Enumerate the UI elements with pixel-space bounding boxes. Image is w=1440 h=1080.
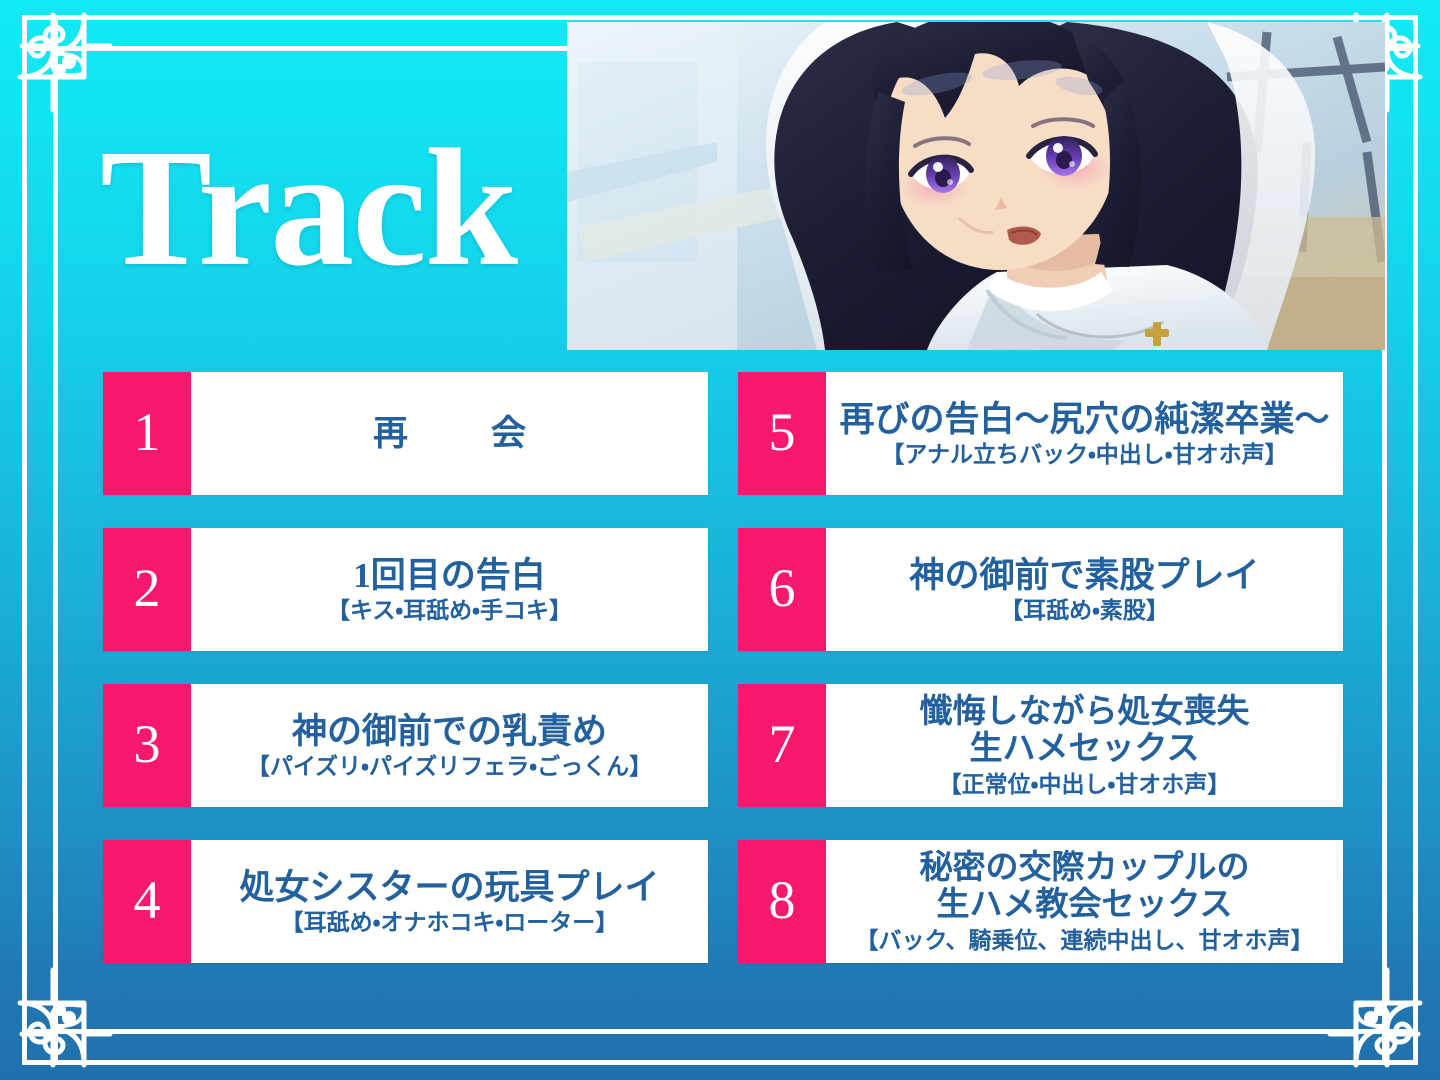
- track-number: 4: [103, 840, 191, 963]
- track-subtitle: 【耳舐め・素股】: [1000, 598, 1169, 623]
- frame-line-left-inner: [53, 15, 58, 1065]
- track-row[interactable]: 7 懺悔しながら処女喪失生ハメセックス 【正常位・中出し・甘オホ声】: [738, 684, 1343, 807]
- track-row[interactable]: 1 再 会: [103, 372, 708, 495]
- track-title: 再 会: [349, 414, 550, 454]
- track-number: 2: [103, 528, 191, 651]
- track-number: 1: [103, 372, 191, 495]
- frame-line-left-outer: [22, 15, 27, 1065]
- track-title: 秘密の交際カップルの生ハメ教会セックス: [920, 850, 1250, 925]
- track-title: 神の御前で素股プレイ: [909, 556, 1259, 596]
- track-row[interactable]: 4 処女シスターの玩具プレイ 【耳舐め・オナホコキ・ローター】: [103, 840, 708, 963]
- track-title: 再びの告白〜尻穴の純潔卒業〜: [839, 400, 1329, 440]
- track-body: 再びの告白〜尻穴の純潔卒業〜 【アナル立ちバック・中出し・甘オホ声】: [826, 372, 1343, 495]
- track-row[interactable]: 2 1回目の告白 【キス・耳舐め・手コキ】: [103, 528, 708, 651]
- track-number: 5: [738, 372, 826, 495]
- track-row[interactable]: 3 神の御前での乳責め 【パイズリ・パイズリフェラ・ごっくん】: [103, 684, 708, 807]
- track-subtitle: 【耳舐め・オナホコキ・ローター】: [281, 910, 619, 935]
- frame-line-bottom-outer: [22, 1060, 1418, 1065]
- track-subtitle: 【キス・耳舐め・手コキ】: [327, 598, 572, 623]
- track-body: 神の御前で素股プレイ 【耳舐め・素股】: [826, 528, 1343, 651]
- track-subtitle: 【正常位・中出し・甘オホ声】: [939, 772, 1231, 797]
- track-list-poster: Track 1 再 会 5 再びの告白〜尻穴の純潔卒業〜 【アナル立ちバック・中…: [0, 0, 1440, 1080]
- track-body: 処女シスターの玩具プレイ 【耳舐め・オナホコキ・ローター】: [191, 840, 708, 963]
- track-row[interactable]: 6 神の御前で素股プレイ 【耳舐め・素股】: [738, 528, 1343, 651]
- track-number: 8: [738, 840, 826, 963]
- track-title: 1回目の告白: [353, 556, 546, 596]
- track-body: 秘密の交際カップルの生ハメ教会セックス 【バック、騎乗位、連続中出し、甘オホ声】: [826, 840, 1343, 963]
- track-title: 神の御前での乳責め: [292, 712, 607, 752]
- track-subtitle: 【パイズリ・パイズリフェラ・ごっくん】: [247, 754, 652, 779]
- character-illustration: [567, 22, 1385, 350]
- frame-line-top-outer: [22, 15, 1418, 20]
- track-body: 再 会: [191, 372, 708, 495]
- track-row[interactable]: 8 秘密の交際カップルの生ハメ教会セックス 【バック、騎乗位、連続中出し、甘オホ…: [738, 840, 1343, 963]
- track-subtitle: 【アナル立ちバック・中出し・甘オホ声】: [881, 442, 1287, 467]
- track-row[interactable]: 5 再びの告白〜尻穴の純潔卒業〜 【アナル立ちバック・中出し・甘オホ声】: [738, 372, 1343, 495]
- track-body: 神の御前での乳責め 【パイズリ・パイズリフェラ・ごっくん】: [191, 684, 708, 807]
- track-list: 1 再 会 5 再びの告白〜尻穴の純潔卒業〜 【アナル立ちバック・中出し・甘オホ…: [103, 372, 1343, 963]
- frame-line-bottom-inner: [22, 1029, 1418, 1034]
- frame-line-right-outer: [1413, 15, 1418, 1065]
- track-body: 懺悔しながら処女喪失生ハメセックス 【正常位・中出し・甘オホ声】: [826, 684, 1343, 807]
- track-number: 7: [738, 684, 826, 807]
- track-title: 処女シスターの玩具プレイ: [239, 868, 659, 908]
- track-number: 6: [738, 528, 826, 651]
- track-number: 3: [103, 684, 191, 807]
- track-body: 1回目の告白 【キス・耳舐め・手コキ】: [191, 528, 708, 651]
- track-title: 懺悔しながら処女喪失生ハメセックス: [920, 694, 1250, 769]
- track-subtitle: 【バック、騎乗位、連続中出し、甘オホ声】: [856, 928, 1314, 953]
- page-title: Track: [100, 124, 516, 292]
